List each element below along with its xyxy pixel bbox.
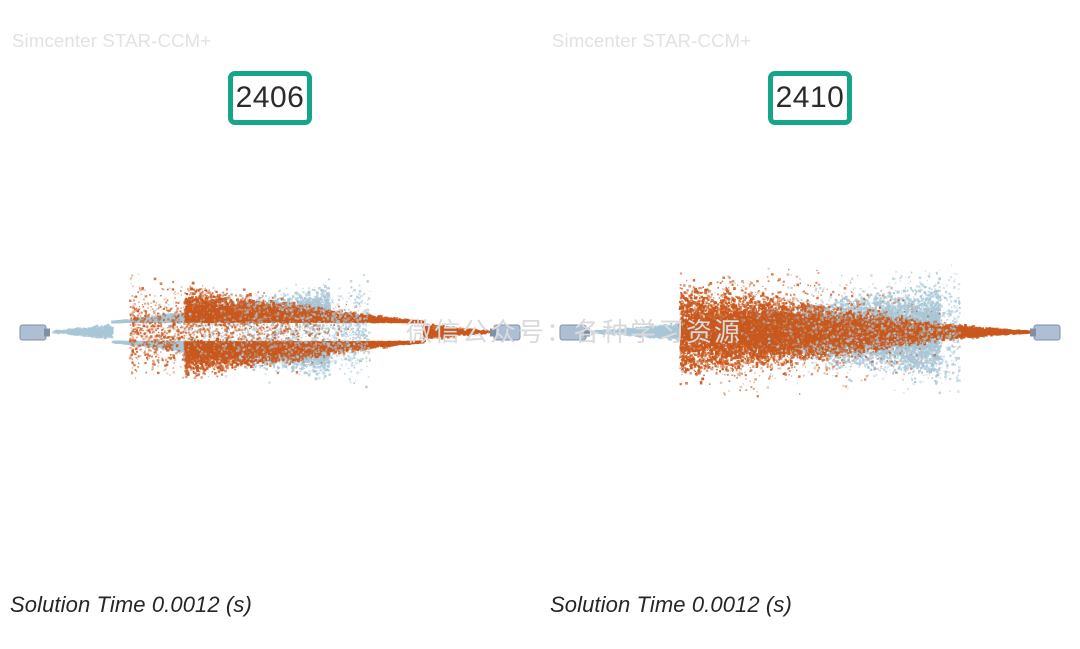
orange-spray-parcels bbox=[679, 272, 1032, 385]
simulation-panel-2410: Simcenter STAR-CCM+ 2410 Solution Time 0… bbox=[540, 0, 1080, 649]
panel-container: Simcenter STAR-CCM+ 2406 Solution Time 0… bbox=[0, 0, 1080, 649]
spray-scene-svg bbox=[0, 150, 540, 540]
comparison-stage: Simcenter STAR-CCM+ 2406 Solution Time 0… bbox=[0, 0, 1080, 649]
spray-scene-svg bbox=[540, 150, 1080, 540]
app-title: Simcenter STAR-CCM+ bbox=[552, 30, 751, 52]
version-badge-2406[interactable]: 2406 bbox=[228, 71, 312, 125]
spray-viewport-2406[interactable] bbox=[0, 150, 540, 540]
simulation-panel-2406: Simcenter STAR-CCM+ 2406 Solution Time 0… bbox=[0, 0, 540, 649]
solution-time-label: Solution Time 0.0012 (s) bbox=[10, 592, 252, 618]
spray-viewport-2410[interactable] bbox=[540, 150, 1080, 540]
solution-time-label: Solution Time 0.0012 (s) bbox=[550, 592, 792, 618]
version-badge-label: 2410 bbox=[776, 83, 845, 113]
app-title: Simcenter STAR-CCM+ bbox=[12, 30, 211, 52]
version-badge-2410[interactable]: 2410 bbox=[768, 71, 852, 125]
version-badge-label: 2406 bbox=[236, 83, 305, 113]
